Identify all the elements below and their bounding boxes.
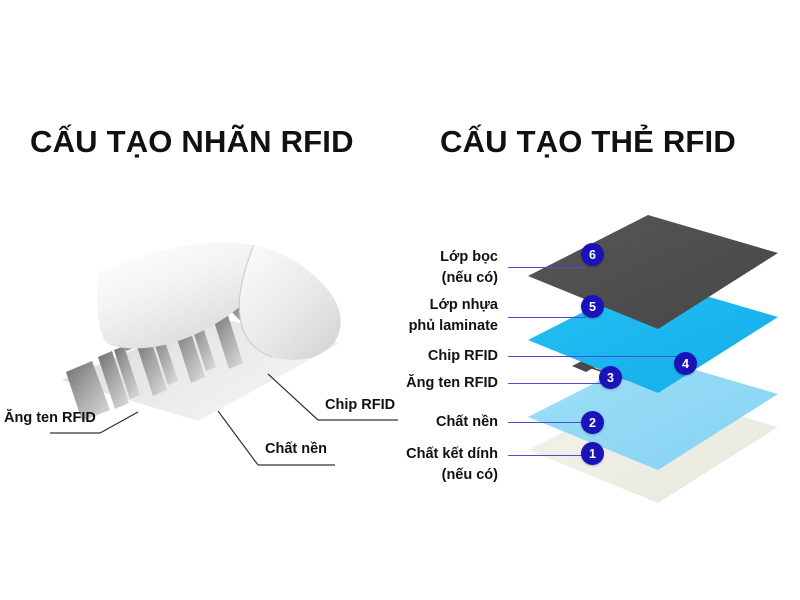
card-badge-3[interactable]: 3 bbox=[599, 366, 622, 389]
leader-line-1 bbox=[508, 455, 586, 456]
card-badge-5[interactable]: 5 bbox=[581, 295, 604, 318]
leader-line-2 bbox=[508, 422, 586, 423]
leader-line-5 bbox=[508, 317, 586, 318]
card-label-3-text: Ăng ten RFID bbox=[406, 375, 498, 391]
card-label-5-text-1: Lớp nhựa bbox=[430, 297, 498, 313]
card-badge-2[interactable]: 2 bbox=[581, 411, 604, 434]
tag-label-antenna: Ăng ten RFID bbox=[4, 409, 96, 428]
card-badge-4[interactable]: 4 bbox=[674, 352, 697, 375]
card-label-6-line1: Lớp bọc bbox=[300, 248, 498, 267]
card-label-2: Chất nền bbox=[300, 413, 498, 432]
card-label-6-line2: (nếu có) bbox=[300, 269, 498, 288]
card-label-1-line2: (nếu có) bbox=[300, 466, 498, 485]
card-label-1-line1: Chất kết dính bbox=[300, 445, 498, 464]
card-label-1-text-2: (nếu có) bbox=[442, 467, 498, 483]
page-title-left: CẤU TẠO NHÃN RFID bbox=[30, 124, 354, 160]
card-label-6-text-2: (nếu có) bbox=[442, 270, 498, 286]
leader-line-4 bbox=[508, 356, 678, 357]
card-label-4: Chip RFID bbox=[300, 347, 498, 366]
page-title-right: CẤU TẠO THẺ RFID bbox=[440, 124, 736, 160]
card-badge-1[interactable]: 1 bbox=[581, 442, 604, 465]
card-label-5-text-2: phủ laminate bbox=[409, 318, 498, 334]
rfid-card-stack-illustration bbox=[520, 180, 800, 520]
card-label-5-line1: Lớp nhựa bbox=[300, 296, 498, 315]
diagram-canvas: CẤU TẠO NHÃN RFID CẤU TẠO THẺ RFID bbox=[0, 0, 800, 600]
card-label-6-text-1: Lớp bọc bbox=[440, 249, 498, 265]
card-label-3: Ăng ten RFID bbox=[300, 374, 498, 393]
leader-line-6 bbox=[508, 267, 586, 268]
card-badge-6[interactable]: 6 bbox=[581, 243, 604, 266]
card-label-5-line2: phủ laminate bbox=[300, 317, 498, 336]
leader-line-3 bbox=[508, 383, 606, 384]
card-label-4-text: Chip RFID bbox=[428, 348, 498, 364]
card-label-2-text: Chất nền bbox=[436, 414, 498, 430]
card-label-1-text-1: Chất kết dính bbox=[406, 446, 498, 462]
